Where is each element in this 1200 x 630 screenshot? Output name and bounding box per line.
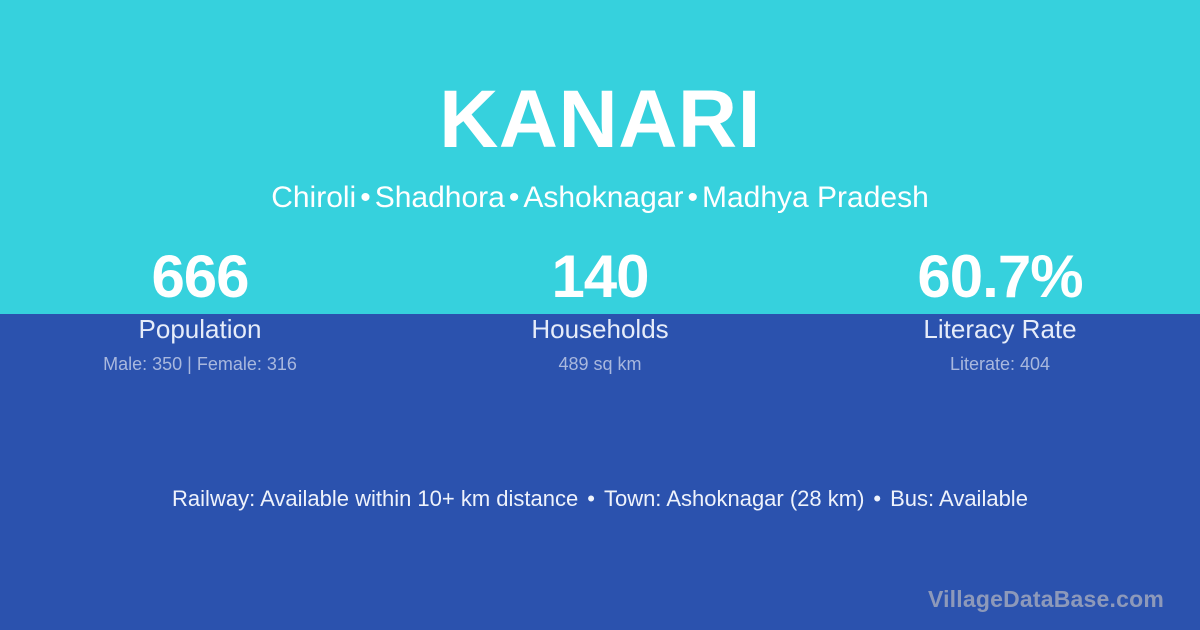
stat-households-label: Households [400, 314, 800, 344]
stat-population-label: Population [0, 314, 400, 344]
amenity-item: Railway: Available within 10+ km distanc… [172, 486, 578, 511]
amenity-separator: • [864, 486, 890, 511]
stat-households-sub: 489 sq km [400, 353, 800, 375]
breadcrumb: Chiroli•Shadhora•Ashoknagar•Madhya Prade… [0, 181, 1200, 215]
card-header: KANARI Chiroli•Shadhora•Ashoknagar•Madhy… [0, 0, 1200, 215]
breadcrumb-item-ashoknagar[interactable]: Ashoknagar [523, 181, 683, 214]
site-brand: VillageDataBase.com [928, 586, 1164, 613]
stat-literacy-label: Literacy Rate [800, 314, 1200, 344]
stat-population: 666PopulationMale: 350 | Female: 316 [0, 243, 400, 375]
stat-literacy-sub: Literate: 404 [800, 353, 1200, 375]
stat-households: 140Households489 sq km [400, 243, 800, 375]
breadcrumb-separator: • [356, 181, 375, 214]
village-title: KANARI [0, 79, 1200, 161]
amenities-line: Railway: Available within 10+ km distanc… [0, 485, 1200, 513]
stat-population-value: 666 [0, 243, 400, 311]
stat-households-value: 140 [400, 243, 800, 311]
stats-row: 666PopulationMale: 350 | Female: 316140H… [0, 243, 1200, 375]
breadcrumb-item-shadhora[interactable]: Shadhora [375, 181, 505, 214]
breadcrumb-item-chiroli[interactable]: Chiroli [271, 181, 356, 214]
breadcrumb-item-madhya-pradesh[interactable]: Madhya Pradesh [702, 181, 929, 214]
breadcrumb-separator: • [683, 181, 702, 214]
stat-literacy-value: 60.7% [800, 243, 1200, 311]
amenity-item: Bus: Available [890, 486, 1028, 511]
amenity-separator: • [578, 486, 604, 511]
village-info-card: KANARI Chiroli•Shadhora•Ashoknagar•Madhy… [0, 0, 1200, 630]
stat-literacy: 60.7%Literacy RateLiterate: 404 [800, 243, 1200, 375]
stat-population-sub: Male: 350 | Female: 316 [0, 353, 400, 375]
breadcrumb-separator: • [505, 181, 524, 214]
amenity-item: Town: Ashoknagar (28 km) [604, 486, 864, 511]
